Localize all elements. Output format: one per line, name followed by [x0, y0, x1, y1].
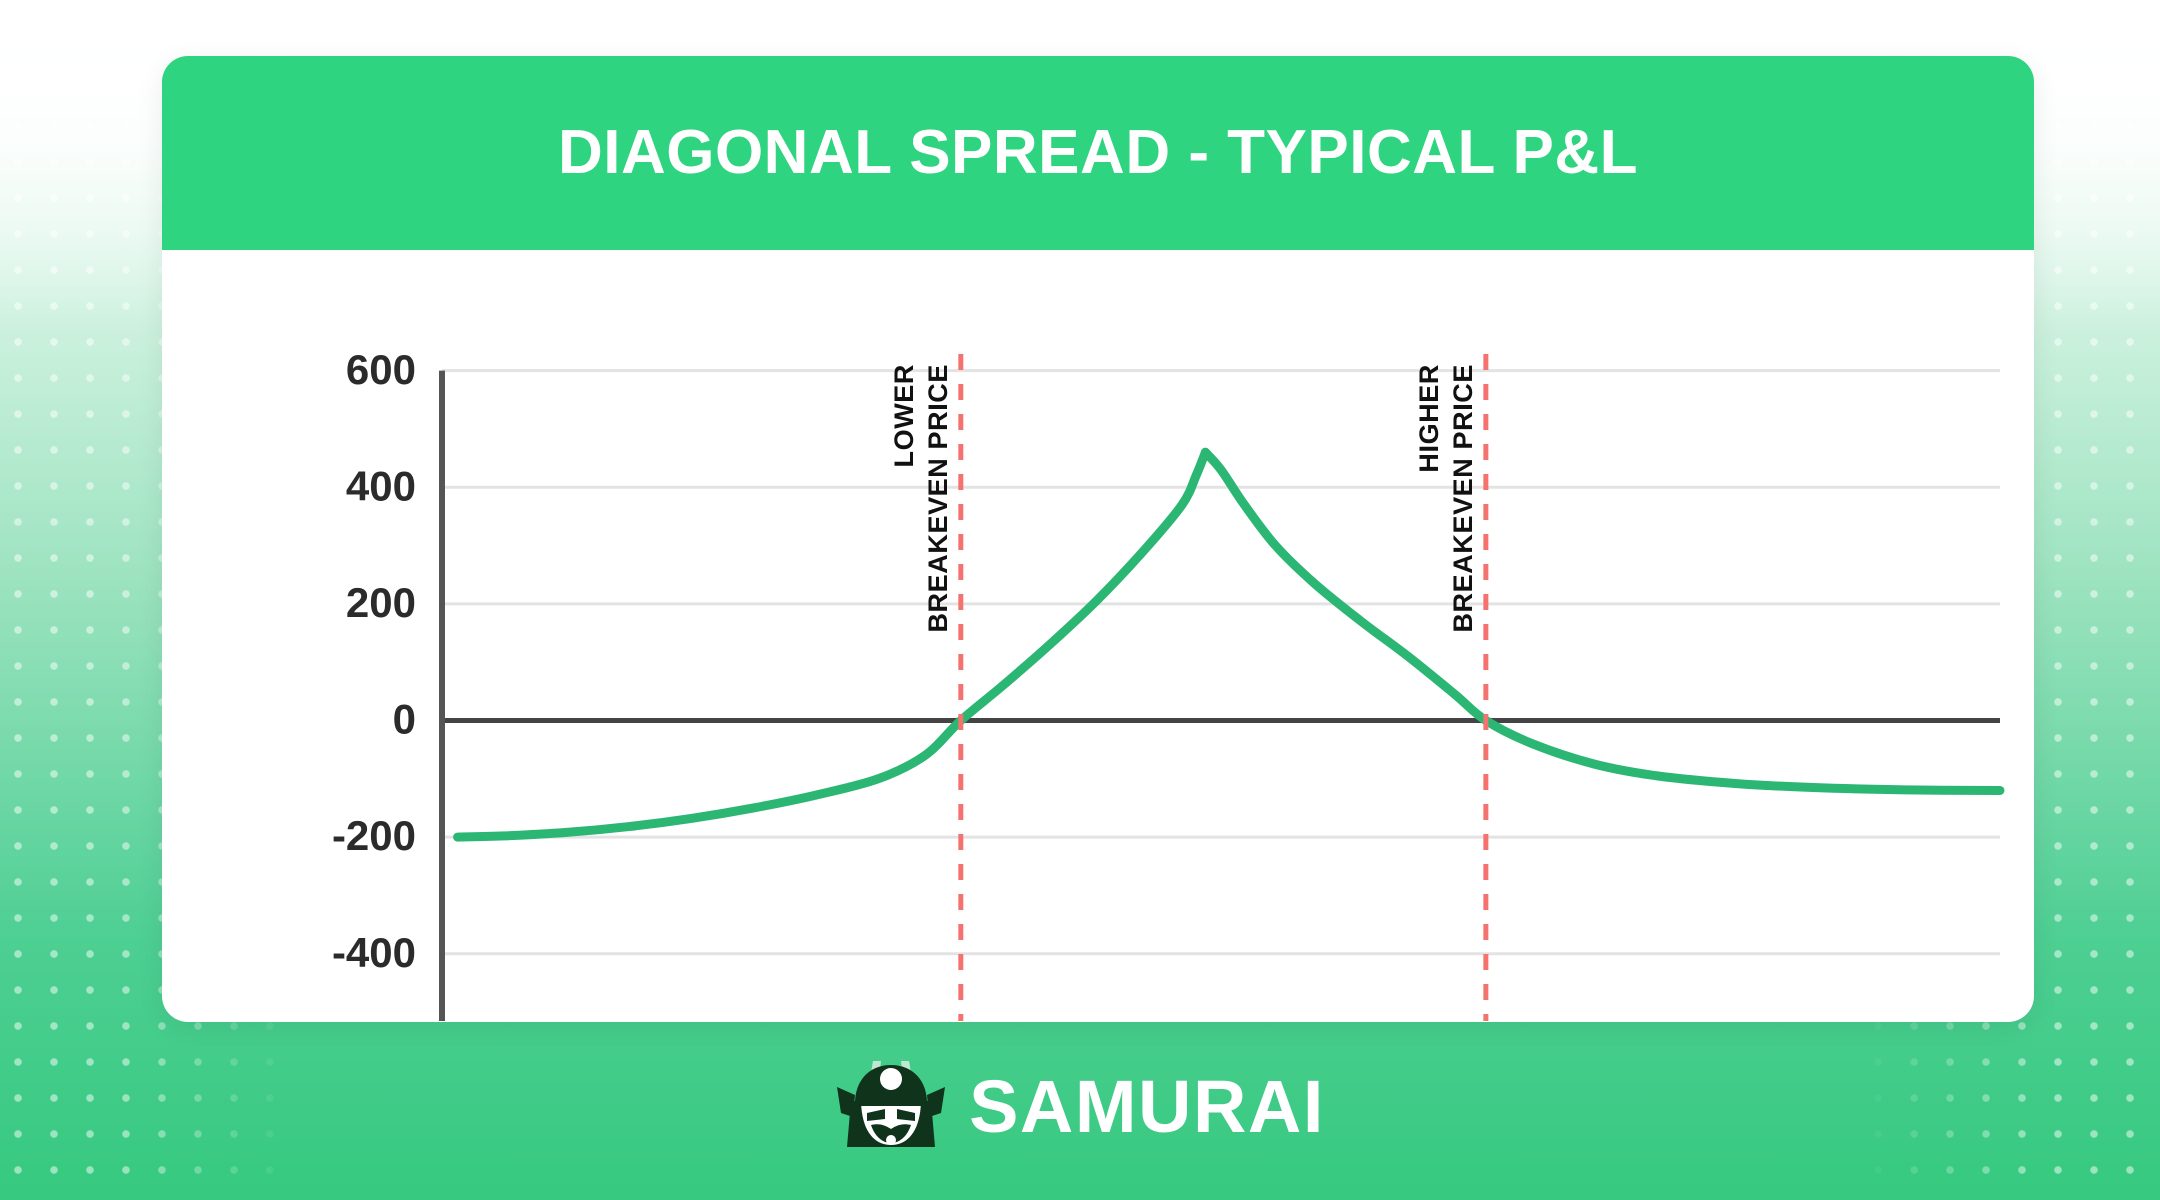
- page-title: DIAGONAL SPREAD - TYPICAL P&L: [558, 122, 1638, 184]
- y-axis-tick-label: 400: [346, 462, 416, 509]
- y-axis-tick-labels: 6004002000-200-400: [332, 346, 416, 976]
- higher-breakeven-label: HIGHER: [1414, 364, 1444, 473]
- pnl-line-chart: 6004002000-200-400 BREAKEVEN PRICELOWERB…: [162, 250, 2034, 1022]
- y-axis-tick-label: -200: [332, 812, 416, 859]
- y-axis-tick-label: 0: [393, 696, 416, 743]
- pnl-line: [1205, 452, 2000, 790]
- brand-name: SAMURAI: [969, 1070, 1325, 1144]
- chart-card: DIAGONAL SPREAD - TYPICAL P&L 6004002000…: [162, 56, 2034, 1022]
- pnl-curve: [458, 452, 2000, 837]
- y-axis-tick-label: 200: [346, 579, 416, 626]
- y-axis-tick-label: 600: [346, 346, 416, 393]
- chart-plot-area: 6004002000-200-400 BREAKEVEN PRICELOWERB…: [162, 250, 2034, 1022]
- chart-header-banner: DIAGONAL SPREAD - TYPICAL P&L: [162, 56, 2034, 250]
- pnl-line: [458, 452, 1206, 837]
- higher-breakeven-label: BREAKEVEN PRICE: [1448, 364, 1478, 633]
- samurai-helmet-icon: [835, 1055, 947, 1159]
- gridlines-group: [442, 371, 2000, 954]
- y-axis-tick-label: -400: [332, 929, 416, 976]
- breakeven-annotations: BREAKEVEN PRICELOWERBREAKEVEN PRICEHIGHE…: [889, 354, 1486, 1021]
- lower-breakeven-label: BREAKEVEN PRICE: [923, 364, 953, 633]
- lower-breakeven-label: LOWER: [889, 364, 919, 468]
- brand-logo: SAMURAI: [0, 1052, 2160, 1162]
